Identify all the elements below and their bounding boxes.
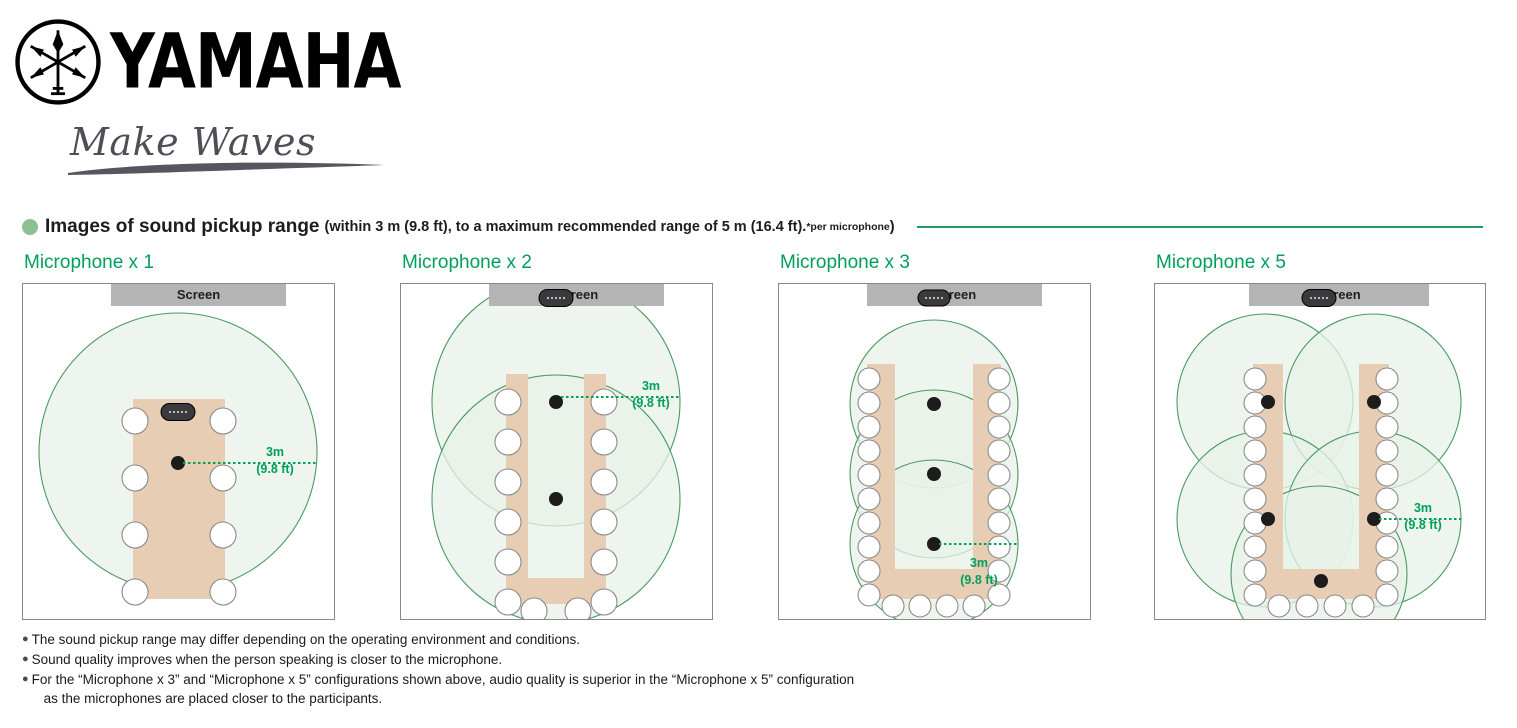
chair (988, 368, 1010, 390)
chair (988, 392, 1010, 414)
chair-seat (495, 469, 521, 495)
chair-seat (122, 408, 148, 434)
header-bullet-icon (22, 219, 38, 235)
chair (1376, 440, 1398, 462)
chair (1244, 416, 1266, 438)
chair (858, 392, 880, 414)
chair-seat (1352, 595, 1374, 617)
chair-seat (591, 429, 617, 455)
chair (1352, 595, 1374, 617)
chair (521, 598, 547, 619)
footnote-text-line1: For the “Microphone x 3” and “Microphone… (32, 672, 854, 687)
page-subtitle: (within 3 m (9.8 ft), to a maximum recom… (325, 219, 807, 235)
conference-table (133, 399, 225, 599)
chair (988, 512, 1010, 534)
microphone-device-icon (918, 290, 950, 306)
chair-seat (858, 416, 880, 438)
chair-seat (1376, 560, 1398, 582)
chair (1244, 368, 1266, 390)
chair (988, 416, 1010, 438)
chair-seat (988, 368, 1010, 390)
mic-grille-dot (1314, 297, 1316, 299)
chair-seat (909, 595, 931, 617)
chair (122, 465, 148, 491)
chair-seat (988, 488, 1010, 510)
pickup-center-dot (1261, 512, 1275, 526)
chair-seat (495, 589, 521, 615)
mic-grille-dot (925, 297, 927, 299)
header-divider (917, 226, 1483, 228)
distance-label-metric: 3m (642, 379, 660, 393)
chair (1376, 368, 1398, 390)
chair (858, 440, 880, 462)
panel-title: Microphone x 3 (780, 252, 1091, 274)
diagram-frame: Screen3m(9.8 ft) (778, 283, 1091, 620)
panel-title: Microphone x 5 (1156, 252, 1486, 274)
make-waves-tagline: Make Waves (14, 122, 374, 162)
chair (1244, 536, 1266, 558)
chair-seat (858, 560, 880, 582)
chair (495, 509, 521, 535)
mic-grille-dot (563, 297, 565, 299)
mic-grille-dot (1310, 297, 1312, 299)
chair (591, 589, 617, 615)
chair (591, 509, 617, 535)
distance-label-metric: 3m (970, 556, 988, 570)
chair-seat (1244, 368, 1266, 390)
chair (122, 408, 148, 434)
microphone-device-icon (539, 290, 573, 307)
section-header: Images of sound pickup range (within 3 m… (22, 212, 1517, 242)
chair (1376, 488, 1398, 510)
chair-seat (858, 368, 880, 390)
chair (210, 579, 236, 605)
chair-seat (591, 549, 617, 575)
pickup-center-dot (549, 492, 563, 506)
chair (1244, 560, 1266, 582)
distance-label-imperial: (9.8 ft) (960, 573, 998, 587)
panel-title: Microphone x 1 (24, 252, 335, 274)
chair-seat (858, 536, 880, 558)
pickup-center-dot (927, 537, 941, 551)
chair (495, 429, 521, 455)
chair (858, 536, 880, 558)
chair-seat (1376, 488, 1398, 510)
mic-grille-dot (1326, 297, 1328, 299)
panel-microphone-2: Microphone x 2 Screen3m(9.8 ft) (400, 252, 713, 620)
tagline-swoosh (64, 160, 394, 178)
chair-seat (1296, 595, 1318, 617)
chair-seat (1244, 416, 1266, 438)
chair (1244, 464, 1266, 486)
chair (122, 579, 148, 605)
page-note-close: ) (890, 219, 895, 235)
chair-seat (1376, 368, 1398, 390)
mic-grille-dot (173, 411, 175, 413)
yamaha-logo: YAMAHA Make Waves (14, 18, 374, 168)
chair (988, 464, 1010, 486)
chair (591, 429, 617, 455)
mic-grille-dot (937, 297, 939, 299)
chair-seat (495, 509, 521, 535)
pickup-center-dot (549, 395, 563, 409)
chair (988, 536, 1010, 558)
chair (591, 389, 617, 415)
chair (1376, 416, 1398, 438)
chair (858, 560, 880, 582)
chair-seat (858, 440, 880, 462)
mic-grille-dot (169, 411, 171, 413)
chair (858, 584, 880, 606)
yamaha-wordmark: YAMAHA (110, 24, 401, 100)
mic-grille-dot (551, 297, 553, 299)
panel-title: Microphone x 2 (402, 252, 713, 274)
chair-seat (936, 595, 958, 617)
chair (495, 589, 521, 615)
chair-seat (988, 440, 1010, 462)
footnote-item: ● For the “Microphone x 3” and “Micropho… (22, 670, 1122, 708)
chair (882, 595, 904, 617)
distance-label-imperial: (9.8 ft) (256, 462, 294, 476)
chair-seat (122, 579, 148, 605)
chair-seat (495, 549, 521, 575)
footnote-text: Sound quality improves when the person s… (32, 650, 1122, 669)
chair-seat (988, 392, 1010, 414)
chair-seat (858, 488, 880, 510)
diagram-frame: Screen3m(9.8 ft) (1154, 283, 1486, 620)
mic-grille-dot (547, 297, 549, 299)
chair-seat (988, 512, 1010, 534)
chair (988, 584, 1010, 606)
chair (1244, 584, 1266, 606)
microphone-device-icon (161, 404, 195, 421)
pickup-center-dot (1261, 395, 1275, 409)
pickup-center-dot (1367, 512, 1381, 526)
chair (565, 598, 591, 619)
chair-seat (1244, 488, 1266, 510)
mic-grille-dot (1322, 297, 1324, 299)
chair-seat (210, 465, 236, 491)
chair-seat (963, 595, 985, 617)
footnote-bullet-icon: ● (22, 650, 29, 669)
mic-grille-dot (933, 297, 935, 299)
page-note: *per microphone (806, 221, 889, 233)
chair-seat (858, 584, 880, 606)
pickup-center-dot (927, 397, 941, 411)
chair-seat (1244, 584, 1266, 606)
footnote-bullet-icon: ● (22, 670, 29, 689)
chair (858, 512, 880, 534)
chair-seat (1244, 536, 1266, 558)
footnote-bullet-icon: ● (22, 630, 29, 649)
footnote-item: ● The sound pickup range may differ depe… (22, 630, 1122, 649)
chair-seat (1268, 595, 1290, 617)
chair (936, 595, 958, 617)
chair (858, 368, 880, 390)
pickup-center-dot (927, 467, 941, 481)
distance-label-metric: 3m (1414, 501, 1432, 515)
chair (1376, 560, 1398, 582)
chair (495, 549, 521, 575)
chair-seat (1244, 464, 1266, 486)
chair (495, 469, 521, 495)
diagram-frame: Screen3m(9.8 ft) (22, 283, 335, 620)
chair-seat (988, 464, 1010, 486)
footnote-text-line2: as the microphones are placed closer to … (32, 689, 1122, 708)
panel-microphone-3: Microphone x 3 Screen3m(9.8 ft) (778, 252, 1091, 620)
chair (1268, 595, 1290, 617)
chair-seat (988, 584, 1010, 606)
chair-seat (1244, 440, 1266, 462)
chair (1244, 440, 1266, 462)
chair-seat (1376, 464, 1398, 486)
chair-seat (495, 429, 521, 455)
chair (1376, 464, 1398, 486)
chair-seat (591, 389, 617, 415)
mic-grille-dot (559, 297, 561, 299)
chair-seat (591, 509, 617, 535)
chair-seat (988, 536, 1010, 558)
chair-seat (591, 589, 617, 615)
chair-seat (1244, 560, 1266, 582)
chair (210, 465, 236, 491)
pickup-center-dot (171, 456, 185, 470)
chair (909, 595, 931, 617)
panel-microphone-5: Microphone x 5 Screen3m(9.8 ft) (1154, 252, 1486, 620)
chair-seat (1324, 595, 1346, 617)
mic-grille-dot (929, 297, 931, 299)
chair-seat (122, 522, 148, 548)
chair (1324, 595, 1346, 617)
chair (1376, 536, 1398, 558)
chair-seat (882, 595, 904, 617)
chair (495, 389, 521, 415)
chair-seat (858, 392, 880, 414)
chair-seat (122, 465, 148, 491)
footnote-text: For the “Microphone x 3” and “Microphone… (32, 670, 1122, 708)
yamaha-tuning-fork-icon (14, 18, 102, 106)
chair-seat (858, 512, 880, 534)
pickup-center-dot (1314, 574, 1328, 588)
chair (210, 408, 236, 434)
footnote-text: The sound pickup range may differ depend… (32, 630, 1122, 649)
mic-grille-dot (177, 411, 179, 413)
chair-seat (210, 522, 236, 548)
chair-seat (210, 408, 236, 434)
chair (210, 522, 236, 548)
mic-grille-dot (941, 297, 943, 299)
mic-grille-dot (555, 297, 557, 299)
chair (122, 522, 148, 548)
chair (858, 488, 880, 510)
mic-grille-dot (181, 411, 183, 413)
chair (988, 488, 1010, 510)
microphone-device-icon (1302, 290, 1336, 307)
distance-label-imperial: (9.8 ft) (1404, 518, 1442, 532)
mic-grille-dot (185, 411, 187, 413)
chair (963, 595, 985, 617)
chair-seat (591, 469, 617, 495)
footnote-list: ● The sound pickup range may differ depe… (22, 630, 1122, 709)
chair (1296, 595, 1318, 617)
distance-label-metric: 3m (266, 445, 284, 459)
chair (591, 469, 617, 495)
chair (1244, 488, 1266, 510)
chair (858, 416, 880, 438)
chair (988, 440, 1010, 462)
chair-seat (1376, 416, 1398, 438)
panel-microphone-1: Microphone x 1 Screen3m(9.8 ft) (22, 252, 335, 620)
chair-seat (210, 579, 236, 605)
chair-seat (988, 416, 1010, 438)
chair-seat (495, 389, 521, 415)
chair-seat (565, 598, 591, 619)
chair-seat (1376, 536, 1398, 558)
chair (1376, 584, 1398, 606)
chair (858, 464, 880, 486)
chair-seat (521, 598, 547, 619)
chair-seat (858, 464, 880, 486)
chair-seat (1376, 440, 1398, 462)
screen-label: Screen (177, 287, 220, 302)
diagram-frame: Screen3m(9.8 ft) (400, 283, 713, 620)
pickup-center-dot (1367, 395, 1381, 409)
page-title: Images of sound pickup range (45, 216, 320, 238)
footnote-item: ● Sound quality improves when the person… (22, 650, 1122, 669)
chair (591, 549, 617, 575)
chair-seat (1376, 584, 1398, 606)
mic-grille-dot (1318, 297, 1320, 299)
distance-label-imperial: (9.8 ft) (632, 396, 670, 410)
